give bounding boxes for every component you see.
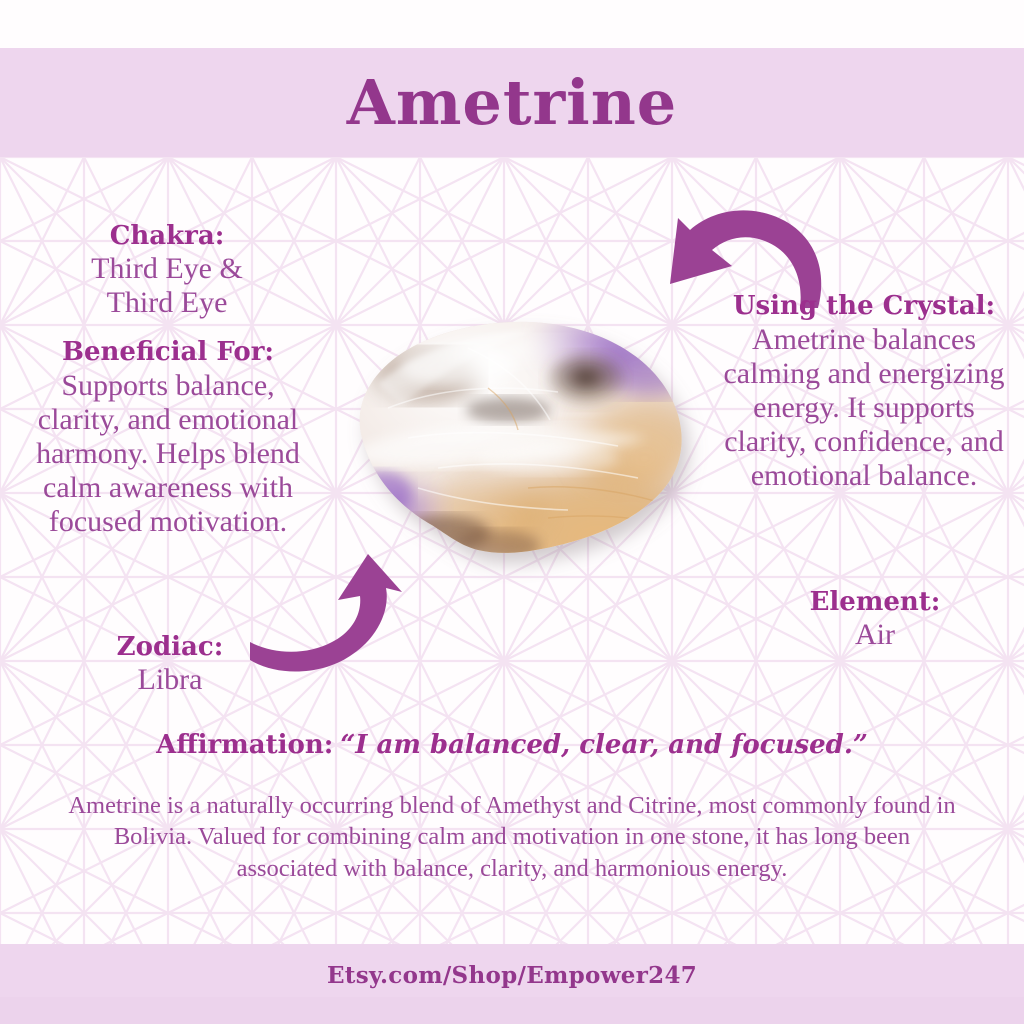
page-title: Ametrine [0, 48, 1024, 157]
zodiac-section: Zodiac: Libra [30, 633, 310, 697]
infographic-card: Ametrine Etsy.com/Shop/Empower247 [0, 0, 1024, 1024]
ametrine-crystal-image [318, 288, 718, 588]
zodiac-heading: Zodiac: [30, 633, 310, 662]
beneficial-for-value: Supports balance, clarity, and emotional… [18, 369, 318, 538]
affirmation-label: Affirmation: [156, 730, 333, 760]
chakra-section: Chakra: Third Eye & Third Eye [22, 222, 312, 320]
element-value: Air [740, 618, 1010, 652]
description-paragraph: Ametrine is a naturally occurring blend … [62, 790, 962, 884]
affirmation-quote: “I am balanced, clear, and focused.” [340, 730, 868, 760]
beneficial-for-heading: Beneficial For: [18, 338, 318, 367]
zodiac-value: Libra [30, 663, 310, 697]
using-the-crystal-section: Using the Crystal: Ametrine balances cal… [718, 292, 1010, 493]
affirmation-row: Affirmation: “I am balanced, clear, and … [0, 730, 1024, 760]
element-heading: Element: [740, 588, 1010, 617]
shop-url-footer[interactable]: Etsy.com/Shop/Empower247 [0, 944, 1024, 1006]
using-the-crystal-heading: Using the Crystal: [718, 292, 1010, 321]
chakra-heading: Chakra: [22, 222, 312, 251]
using-the-crystal-value: Ametrine balances calming and energizing… [718, 323, 1010, 492]
chakra-value: Third Eye & Third Eye [22, 252, 312, 320]
beneficial-for-section: Beneficial For: Supports balance, clarit… [18, 338, 318, 539]
element-section: Element: Air [740, 588, 1010, 652]
